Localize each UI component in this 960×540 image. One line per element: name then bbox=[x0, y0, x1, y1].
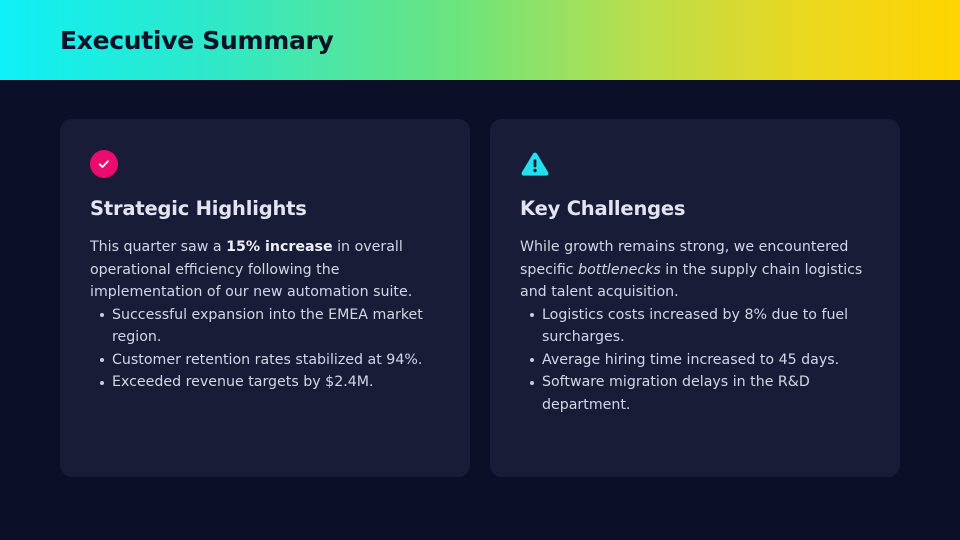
list-item: Average hiring time increased to 45 days… bbox=[542, 349, 870, 372]
card-icon-slot bbox=[520, 149, 870, 179]
warning-triangle-icon bbox=[520, 150, 550, 178]
card-bullet-list: Successful expansion into the EMEA marke… bbox=[90, 304, 440, 394]
list-item: Successful expansion into the EMEA marke… bbox=[112, 304, 440, 349]
paragraph-emphasis-bold: 15% increase bbox=[226, 239, 333, 255]
card-grid: Strategic Highlights This quarter saw a … bbox=[60, 119, 900, 477]
page-title: Executive Summary bbox=[60, 28, 334, 53]
card-paragraph: While growth remains strong, we encounte… bbox=[520, 236, 870, 304]
slide-root: Executive Summary Strategic Highlights T… bbox=[0, 0, 960, 540]
check-circle-icon bbox=[90, 150, 118, 178]
paragraph-emphasis-italic: bottlenecks bbox=[578, 262, 661, 278]
slide-header: Executive Summary bbox=[0, 0, 960, 80]
list-item: Customer retention rates stabilized at 9… bbox=[112, 349, 440, 372]
card-key-challenges: Key Challenges While growth remains stro… bbox=[490, 119, 900, 477]
list-item: Logistics costs increased by 8% due to f… bbox=[542, 304, 870, 349]
card-title: Key Challenges bbox=[520, 197, 870, 220]
card-title: Strategic Highlights bbox=[90, 197, 440, 220]
list-item: Software migration delays in the R&D dep… bbox=[542, 371, 870, 416]
card-icon-slot bbox=[90, 149, 440, 179]
paragraph-text-before: This quarter saw a bbox=[90, 239, 226, 255]
card-bullet-list: Logistics costs increased by 8% due to f… bbox=[520, 304, 870, 417]
card-strategic-highlights: Strategic Highlights This quarter saw a … bbox=[60, 119, 470, 477]
card-paragraph: This quarter saw a 15% increase in overa… bbox=[90, 236, 440, 304]
list-item: Exceeded revenue targets by $2.4M. bbox=[112, 371, 440, 394]
